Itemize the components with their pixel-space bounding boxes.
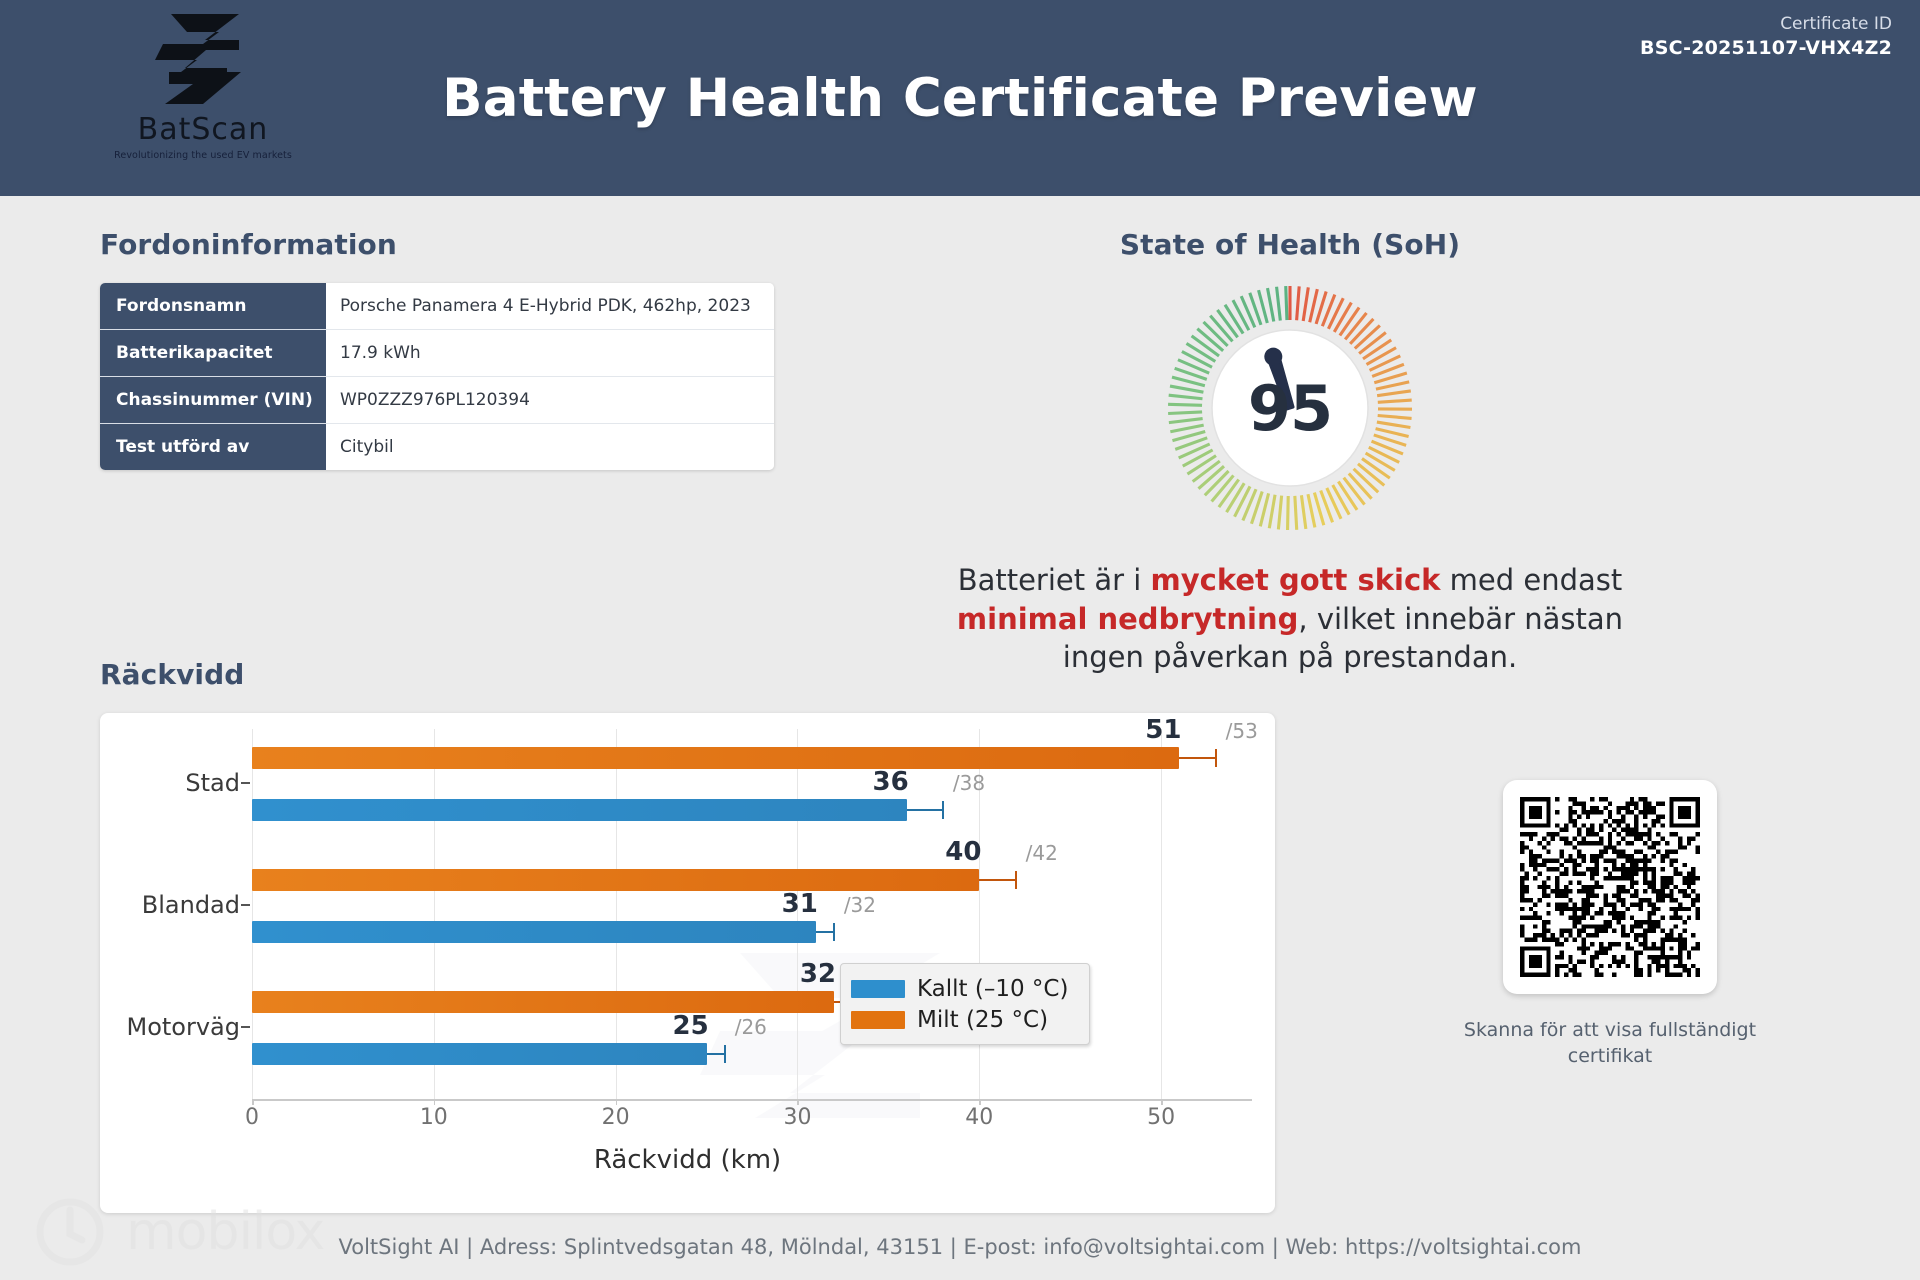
vehicle-info-heading: Fordoninformation (100, 228, 780, 261)
chart-legend: Kallt (–10 °C)Milt (25 °C) (840, 963, 1090, 1045)
chart-x-tick-label: 40 (965, 1105, 993, 1130)
chart-bar-max-label: /32 (844, 893, 876, 917)
vehicle-row-value: Porsche Panamera 4 E-Hybrid PDK, 462hp, … (326, 283, 774, 330)
chart-error-bar (1179, 757, 1215, 759)
chart-gridline (1161, 729, 1162, 1099)
chart-error-bar-cap (833, 923, 836, 941)
soh-summary-highlight-1: mycket gott skick (1151, 563, 1441, 597)
certificate-id-label: Certificate ID (1640, 14, 1892, 34)
vehicle-row-label: Chassinummer (VIN) (100, 377, 326, 424)
range-heading: Räckvidd (100, 658, 1280, 691)
chart-bar (252, 1043, 707, 1065)
table-row: FordonsnamnPorsche Panamera 4 E-Hybrid P… (100, 283, 774, 330)
chart-error-bar-cap (1015, 871, 1018, 889)
table-row: Chassinummer (VIN)WP0ZZZ976PL120394 (100, 377, 774, 424)
soh-summary-part-2: med endast (1440, 563, 1622, 597)
chart-x-tick-label: 30 (783, 1105, 811, 1130)
chart-bar-value-label: 31 (782, 889, 818, 919)
chart-legend-label: Milt (25 °C) (917, 1007, 1048, 1033)
chart-error-bar (979, 879, 1015, 881)
certificate-id-value: BSC-20251107-VHX4Z2 (1640, 37, 1892, 59)
soh-value: 95 (1165, 283, 1415, 533)
chart-bar (252, 921, 816, 943)
vehicle-row-label: Fordonsnamn (100, 283, 326, 330)
chart-x-axis-label: Räckvidd (km) (100, 1145, 1275, 1175)
footer-text: VoltSight AI | Adress: Splintvedsgatan 4… (339, 1235, 1582, 1259)
chart-x-tick-label: 20 (602, 1105, 630, 1130)
qr-caption: Skanna för att visa fullständigt certifi… (1455, 1018, 1765, 1069)
vehicle-row-value: Citybil (326, 424, 774, 470)
chart-bar-value-label: 36 (873, 767, 909, 797)
chart-category-tick (241, 782, 250, 784)
chart-category-label: Motorväg (127, 1013, 241, 1041)
chart-x-tick-label: 50 (1147, 1105, 1175, 1130)
chart-error-bar-cap (942, 801, 945, 819)
chart-legend-item[interactable]: Kallt (–10 °C) (851, 973, 1077, 1004)
chart-error-bar (707, 1053, 725, 1055)
vehicle-info-section: Fordoninformation FordonsnamnPorsche Pan… (100, 228, 780, 470)
range-section: Räckvidd Stad51/5336/38Blandad40/4231/32… (100, 658, 1280, 1213)
chart-error-bar-cap (724, 1045, 727, 1063)
soh-gauge: 95 (1165, 283, 1415, 533)
range-chart-card: Stad51/5336/38Blandad40/4231/32Motorväg3… (100, 713, 1275, 1213)
chart-bar-value-label: 40 (945, 837, 981, 867)
page-header: BatScan Revolutionizing the used EV mark… (0, 0, 1920, 196)
chart-bar-max-label: /38 (953, 771, 985, 795)
range-chart: Stad51/5336/38Blandad40/4231/32Motorväg3… (100, 713, 1275, 1213)
chart-bar-value-label: 51 (1145, 715, 1181, 745)
chart-x-axis (252, 1099, 1252, 1101)
chart-category-label: Blandad (142, 891, 240, 919)
page-title: Battery Health Certificate Preview (0, 0, 1920, 196)
qr-code-card[interactable] (1503, 780, 1717, 994)
chart-bar-max-label: /42 (1026, 841, 1058, 865)
soh-section: State of Health (SoH) 95 Batteriet är i … (960, 228, 1620, 677)
vehicle-row-value: 17.9 kWh (326, 330, 774, 377)
page-footer: VoltSight AI | Adress: Splintvedsgatan 4… (0, 1214, 1920, 1280)
chart-bar-value-label: 25 (673, 1011, 709, 1041)
chart-x-tick-label: 0 (245, 1105, 259, 1130)
chart-error-bar (907, 809, 943, 811)
vehicle-row-label: Batterikapacitet (100, 330, 326, 377)
qr-section: Skanna för att visa fullständigt certifi… (1455, 780, 1765, 1069)
chart-legend-label: Kallt (–10 °C) (917, 976, 1068, 1002)
chart-error-bar-cap (1215, 749, 1218, 767)
chart-bar (252, 799, 907, 821)
qr-code-icon[interactable] (1520, 797, 1700, 977)
table-row: Test utförd avCitybil (100, 424, 774, 470)
soh-summary-part-1: Batteriet är i (958, 563, 1151, 597)
table-row: Batterikapacitet17.9 kWh (100, 330, 774, 377)
chart-legend-item[interactable]: Milt (25 °C) (851, 1004, 1077, 1035)
chart-bar (252, 991, 834, 1013)
soh-heading: State of Health (SoH) (960, 228, 1620, 261)
vehicle-info-table: FordonsnamnPorsche Panamera 4 E-Hybrid P… (100, 283, 774, 470)
certificate-id-block: Certificate ID BSC-20251107-VHX4Z2 (1640, 14, 1892, 59)
chart-error-bar (816, 931, 834, 933)
chart-bar-max-label: /53 (1226, 719, 1258, 743)
chart-bar (252, 747, 1179, 769)
chart-bar-value-label: 32 (800, 959, 836, 989)
chart-category-tick (241, 1026, 250, 1028)
chart-legend-swatch (851, 1011, 905, 1029)
vehicle-row-value: WP0ZZZ976PL120394 (326, 377, 774, 424)
chart-bar (252, 869, 979, 891)
chart-x-tick-label: 10 (420, 1105, 448, 1130)
chart-bar-max-label: /26 (735, 1015, 767, 1039)
chart-category-tick (241, 904, 250, 906)
chart-category-label: Stad (185, 769, 240, 797)
soh-summary-highlight-2: minimal nedbrytning (957, 602, 1298, 636)
chart-legend-swatch (851, 980, 905, 998)
vehicle-row-label: Test utförd av (100, 424, 326, 470)
